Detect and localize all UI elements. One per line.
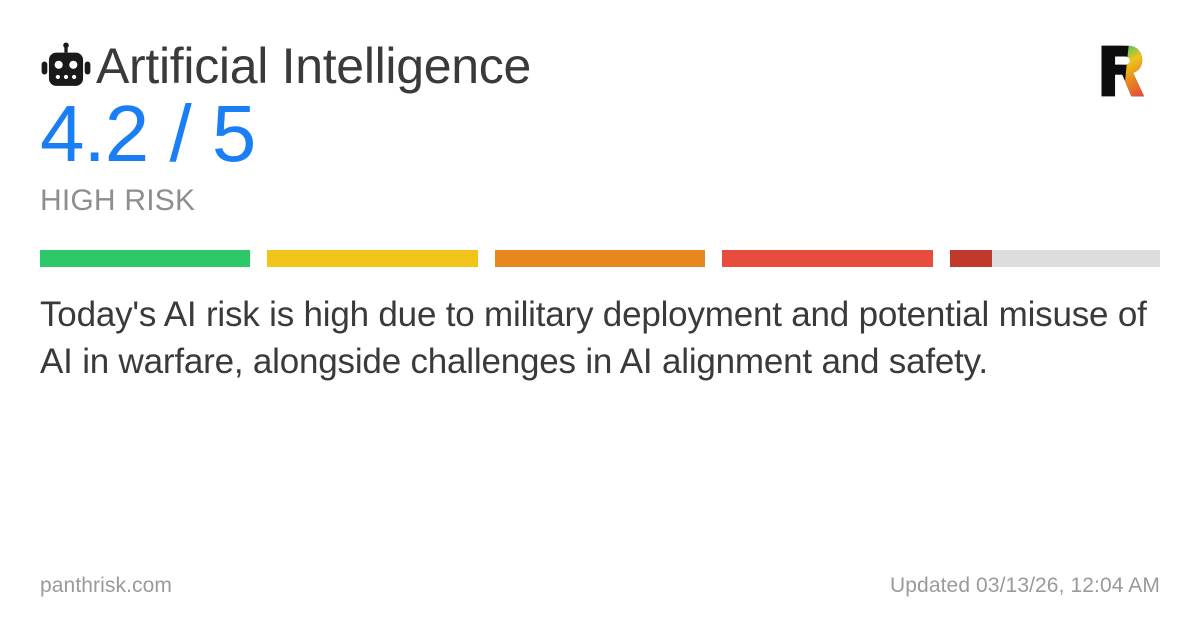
risk-summary-card: Artificial Intelligence [0, 0, 1200, 630]
robot-icon [40, 42, 92, 94]
panth-risk-r-logo [1096, 42, 1154, 100]
meter-segment-2 [267, 250, 477, 267]
meter-segment-4 [722, 250, 932, 267]
risk-meter [40, 250, 1160, 267]
site-name: panthrisk.com [40, 574, 172, 598]
page-title: Artificial Intelligence [96, 40, 531, 92]
risk-score: 4.2 / 5 [40, 94, 1160, 174]
meter-segment-4-fill [722, 250, 932, 267]
meter-segment-1 [40, 250, 250, 267]
meter-segment-1-fill [40, 250, 250, 267]
footer: panthrisk.com Updated 03/13/26, 12:04 AM [40, 574, 1160, 598]
meter-segment-5 [950, 250, 1160, 267]
risk-description: Today's AI risk is high due to military … [40, 291, 1155, 386]
risk-level-label: HIGH RISK [40, 186, 1160, 216]
meter-segment-3-fill [495, 250, 705, 267]
meter-segment-2-fill [267, 250, 477, 267]
meter-segment-3 [495, 250, 705, 267]
meter-segment-5-fill [950, 250, 992, 267]
updated-timestamp: Updated 03/13/26, 12:04 AM [890, 574, 1160, 598]
title-block: Artificial Intelligence [40, 40, 531, 92]
